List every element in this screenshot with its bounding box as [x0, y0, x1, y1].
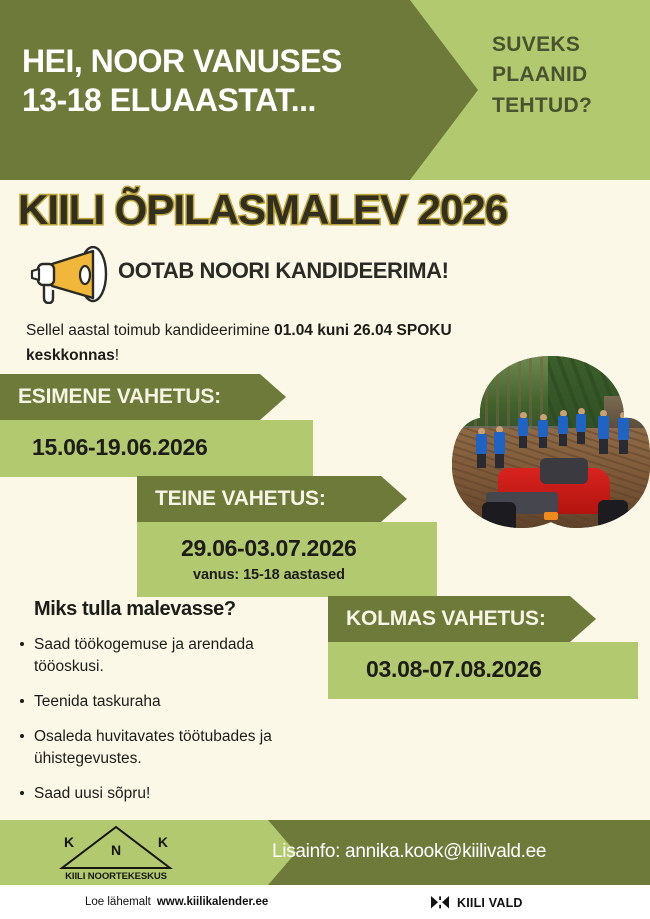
kiili-vald-mark-icon — [430, 895, 450, 911]
list-item: Saad töökogemuse ja arendada tööoskusi. — [16, 634, 326, 678]
shift-first-body: 15.06-19.06.2026 — [0, 420, 313, 477]
list-item: Teenida taskuraha — [16, 691, 326, 713]
photo-clover-mask — [452, 356, 650, 528]
header-question-text: SUVEKS PLAANID TEHTUD? — [492, 30, 642, 121]
shift-banner-second: TEINE VAHETUS: 29.06-03.07.2026 vanus: 1… — [137, 476, 437, 597]
photo-person — [558, 416, 568, 446]
shift-first-heading: ESIMENE VAHETUS: — [0, 374, 286, 420]
photo-person — [538, 420, 548, 448]
contact-email[interactable]: Lisainfo: annika.kook@kiilivald.ee — [272, 841, 546, 863]
knk-letter-k1: K — [64, 834, 74, 850]
photo-person — [576, 414, 586, 444]
poster: HEI, NOOR VANUSES 13-18 ELUAASTAT... SUV… — [0, 0, 650, 919]
knk-caption: KIILI NOORTEKESKUS — [58, 871, 174, 882]
shift-second-age-note: vanus: 15-18 aastased — [181, 562, 437, 586]
shift-banner-first: ESIMENE VAHETUS: 15.06-19.06.2026 — [0, 374, 313, 477]
photo-atv — [480, 458, 630, 528]
page-title: KIILI ÕPILASMALEV 2026 — [18, 186, 507, 234]
read-more-label: Loe lähemalt — [85, 896, 151, 908]
shift-banner-third: KOLMAS VAHETUS: 03.08-07.08.2026 — [328, 596, 638, 699]
subtitle-text: OOTAB NOORI KANDIDEERIMA! — [118, 258, 449, 284]
why-section-title: Miks tulla malevasse? — [34, 598, 236, 621]
intro-dates: 01.04 kuni 26.04 — [274, 322, 392, 339]
shift-third-body: 03.08-07.08.2026 — [328, 642, 638, 699]
shift-first-dates: 15.06-19.06.2026 — [32, 434, 313, 461]
shift-second-heading: TEINE VAHETUS: — [137, 476, 407, 522]
knk-letters: K N K — [58, 834, 174, 850]
intro-paragraph: Sellel aastal toimub kandideerimine 01.0… — [26, 318, 506, 368]
shift-second-body: 29.06-03.07.2026 vanus: 15-18 aastased — [137, 522, 437, 597]
shift-third-dates: 03.08-07.08.2026 — [366, 656, 638, 683]
photo-youth-working — [452, 356, 650, 528]
knk-letter-n: N — [111, 842, 121, 858]
list-item: Saad uusi sõpru! — [16, 783, 326, 805]
megaphone-icon — [24, 246, 110, 304]
knk-logo: K N K KIILI NOORTEKESKUS — [58, 824, 174, 882]
why-benefits-list: Saad töökogemuse ja arendada tööoskusi. … — [16, 634, 326, 818]
shift-second-dates: 29.06-03.07.2026 — [181, 535, 437, 562]
kiili-vald-logo: KIILI VALD — [430, 895, 523, 911]
photo-person — [518, 418, 528, 448]
list-item: Osaleda huvitavates töötubades ja ühiste… — [16, 726, 326, 770]
intro-text-end: ! — [115, 347, 119, 364]
read-more-url[interactable]: www.kiilikalender.ee — [151, 896, 268, 908]
header-band: HEI, NOOR VANUSES 13-18 ELUAASTAT... SUV… — [0, 0, 650, 180]
header-headline-line2: 13-18 ELUAASTAT... — [22, 81, 422, 120]
kiili-vald-label: KIILI VALD — [457, 896, 523, 910]
header-headline: HEI, NOOR VANUSES 13-18 ELUAASTAT... — [22, 42, 422, 120]
intro-text-pre: Sellel aastal toimub kandideerimine — [26, 322, 274, 339]
knk-letter-k2: K — [158, 834, 168, 850]
photo-person — [598, 416, 609, 454]
shift-third-heading: KOLMAS VAHETUS: — [328, 596, 596, 642]
header-headline-line1: HEI, NOOR VANUSES — [22, 42, 422, 81]
photo-person — [618, 418, 629, 454]
read-more: Loe lähemaltwww.kiilikalender.ee — [85, 896, 268, 908]
